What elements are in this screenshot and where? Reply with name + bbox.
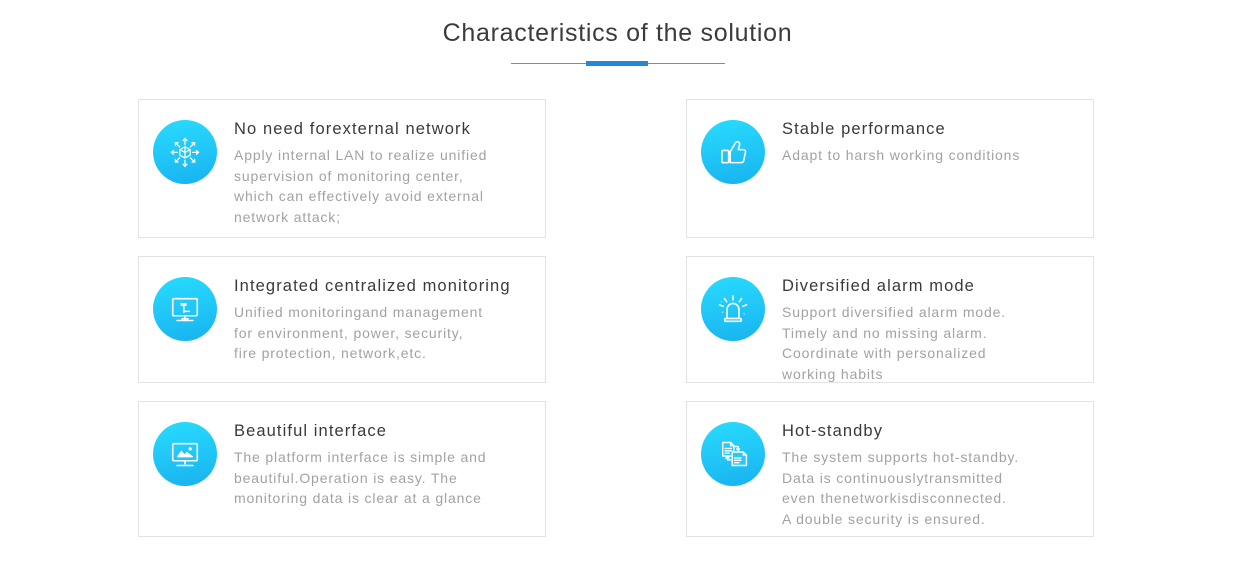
divider-accent-segment: [586, 61, 648, 66]
feature-card-body: Integrated centralized monitoring Unifie…: [234, 273, 511, 364]
feature-card-body: Beautiful interface The platform interfa…: [234, 418, 486, 509]
feature-card-description: The platform interface is simple and bea…: [234, 447, 486, 509]
feature-card-no-need-for-external-network[interactable]: No need forexternal network Apply intern…: [138, 99, 546, 238]
feature-card-description: Apply internal LAN to realize unified su…: [234, 145, 487, 227]
feature-card-title: No need forexternal network: [234, 118, 487, 140]
feature-card-row: Beautiful interface The platform interfa…: [138, 401, 1094, 537]
feature-card-title: Diversified alarm mode: [782, 275, 1006, 297]
feature-card-title: Integrated centralized monitoring: [234, 275, 511, 297]
feature-card-body: No need forexternal network Apply intern…: [234, 116, 487, 227]
monitor-screen-icon: [153, 277, 217, 341]
feature-card-title: Stable performance: [782, 118, 1020, 140]
thumbs-up-icon: [701, 120, 765, 184]
feature-card-beautiful-interface[interactable]: Beautiful interface The platform interfa…: [138, 401, 546, 537]
feature-card-integrated-centralized-monitoring[interactable]: Integrated centralized monitoring Unifie…: [138, 256, 546, 383]
feature-cards-grid: No need forexternal network Apply intern…: [138, 99, 1094, 537]
network-cube-icon: [153, 120, 217, 184]
feature-card-body: Stable performance Adapt to harsh workin…: [782, 116, 1020, 166]
monitor-image-icon: [153, 422, 217, 486]
page-header: Characteristics of the solution: [0, 0, 1235, 68]
feature-card-stable-performance[interactable]: Stable performance Adapt to harsh workin…: [686, 99, 1094, 238]
feature-card-row: No need forexternal network Apply intern…: [138, 99, 1094, 238]
feature-card-hot-standby[interactable]: Hot-standby The system supports hot-stan…: [686, 401, 1094, 537]
feature-card-title: Beautiful interface: [234, 420, 486, 442]
feature-card-description: Unified monitoringand management for env…: [234, 302, 511, 364]
documents-sync-icon: [701, 422, 765, 486]
feature-card-description: The system supports hot-standby. Data is…: [782, 447, 1019, 529]
feature-card-body: Hot-standby The system supports hot-stan…: [782, 418, 1019, 529]
feature-card-description: Adapt to harsh working conditions: [782, 145, 1020, 166]
feature-card-diversified-alarm-mode[interactable]: Diversified alarm mode Support diversifi…: [686, 256, 1094, 383]
alarm-siren-icon: [701, 277, 765, 341]
feature-card-title: Hot-standby: [782, 420, 1019, 442]
feature-card-body: Diversified alarm mode Support diversifi…: [782, 273, 1006, 384]
feature-card-description: Support diversified alarm mode. Timely a…: [782, 302, 1006, 384]
feature-card-row: Integrated centralized monitoring Unifie…: [138, 256, 1094, 383]
page-title: Characteristics of the solution: [0, 16, 1235, 50]
title-divider: [511, 59, 725, 68]
